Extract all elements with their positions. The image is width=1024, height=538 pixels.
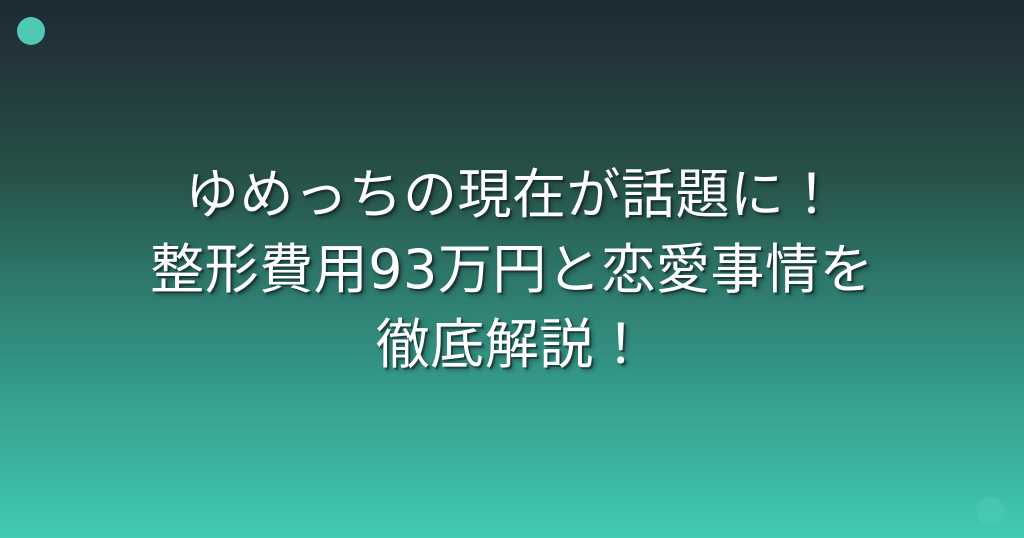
eyecatch-card: ゆめっちの現在が話題に！ 整形費用93万円と恋愛事情を 徹底解説！ <box>0 0 1024 538</box>
title-line-2: 整形費用93万円と恋愛事情を <box>150 232 874 307</box>
title-line-3: 徹底解説！ <box>376 307 649 382</box>
title-line-1: ゆめっちの現在が話題に！ <box>185 157 839 232</box>
page-title: ゆめっちの現在が話題に！ 整形費用93万円と恋愛事情を 徹底解説！ <box>0 0 1024 538</box>
